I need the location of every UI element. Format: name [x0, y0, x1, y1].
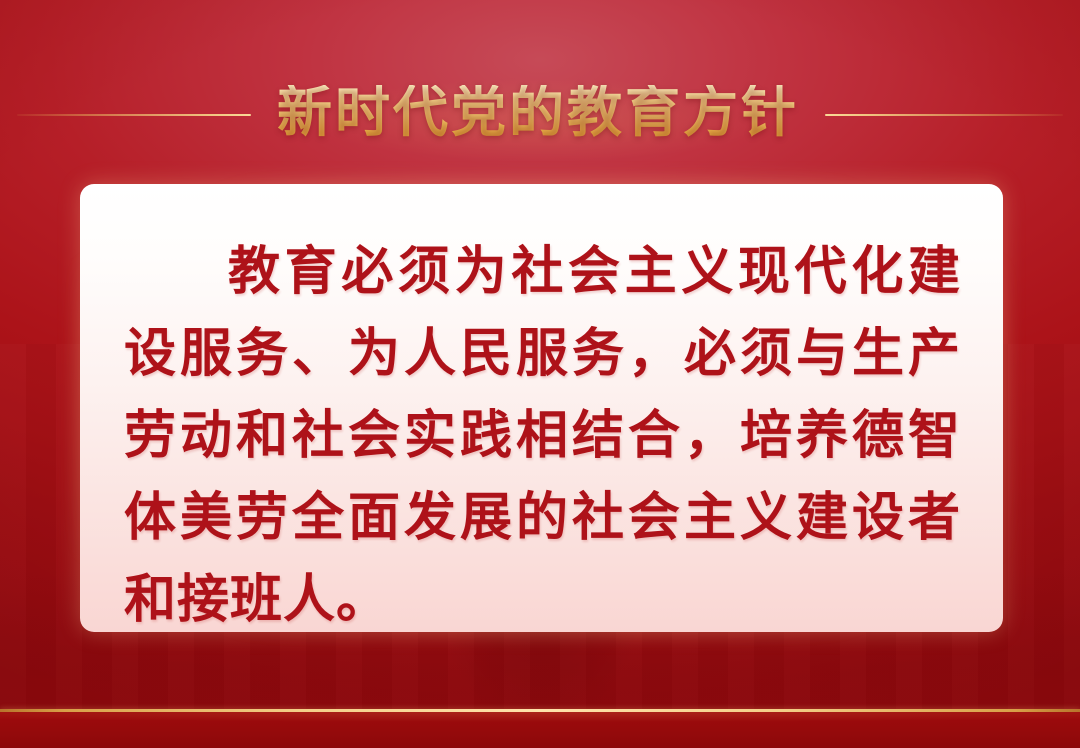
content-card: 教育必须为社会主义现代化建设服务、为人民服务，必须与生产劳动和社会实践相结合，培… — [80, 184, 1003, 632]
header: 新时代党的教育方针 — [0, 72, 1080, 158]
education-policy-text: 教育必须为社会主义现代化建设服务、为人民服务，必须与生产劳动和社会实践相结合，培… — [124, 232, 961, 632]
bottom-base-band — [0, 712, 1080, 748]
right-decorative-rule-icon — [825, 114, 1063, 116]
page-title: 新时代党的教育方针 — [273, 85, 803, 146]
poster-root: 新时代党的教育方针 教育必须为社会主义现代化建设服务、为人民服务，必须与生产劳动… — [0, 0, 1080, 748]
left-decorative-rule-icon — [17, 114, 251, 116]
